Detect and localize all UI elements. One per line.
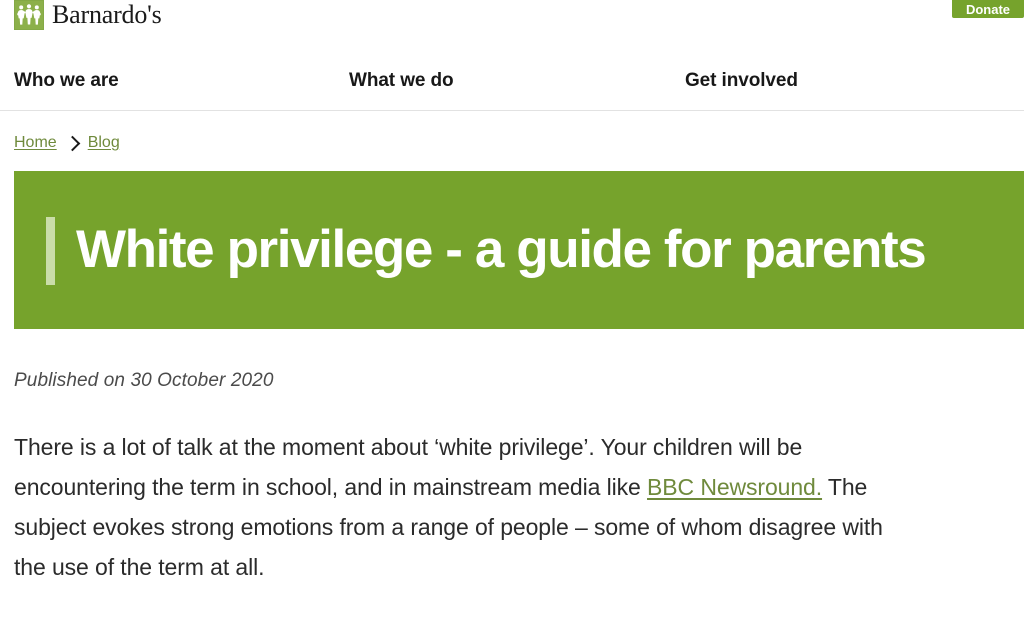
site-logo-link[interactable]: Barnardo's — [14, 0, 162, 30]
article-hero-banner: White privilege - a guide for parents — [14, 171, 1024, 329]
nav-item-get-involved[interactable]: Get involved — [685, 70, 798, 92]
nav-item-what-we-do[interactable]: What we do — [349, 70, 454, 92]
donate-button[interactable]: Donate — [952, 0, 1024, 18]
chevron-right-icon — [64, 135, 80, 151]
page-title: White privilege - a guide for parents — [76, 221, 943, 279]
barnardos-people-logo-icon — [14, 0, 44, 30]
site-header: Barnardo's Donate — [0, 0, 1024, 46]
article-body: Published on 30 October 2020 There is a … — [0, 370, 1024, 587]
breadcrumb-item-home[interactable]: Home — [14, 134, 57, 152]
main-navigation: Who we are What we do Get involved — [0, 46, 1024, 111]
bbc-newsround-link[interactable]: BBC Newsround. — [647, 474, 822, 500]
site-brand-name: Barnardo's — [52, 0, 162, 30]
published-date: Published on 30 October 2020 — [14, 370, 1010, 392]
breadcrumb-item-blog[interactable]: Blog — [88, 134, 120, 152]
hero-accent-bar — [46, 217, 55, 285]
nav-item-who-we-are[interactable]: Who we are — [14, 70, 119, 92]
breadcrumb: Home Blog — [0, 111, 1024, 152]
article-lede-paragraph: There is a lot of talk at the moment abo… — [14, 427, 904, 587]
